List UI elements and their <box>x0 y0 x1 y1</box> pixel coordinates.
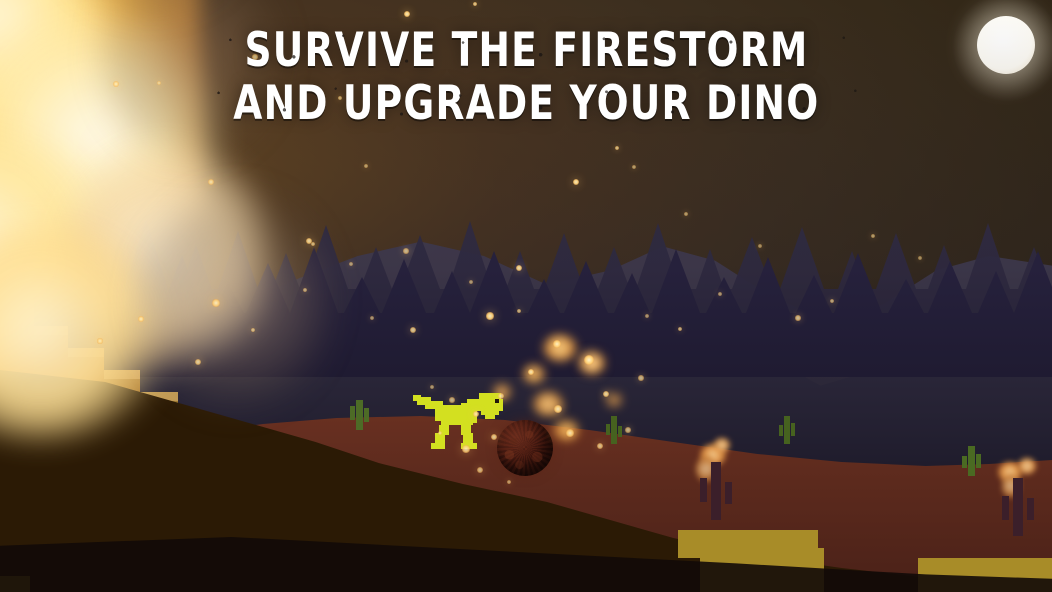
green-cactus-3 <box>777 414 797 444</box>
green-cactus-2 <box>604 414 624 444</box>
pixel-dino <box>413 383 509 449</box>
green-cactus-4 <box>960 444 982 476</box>
burning-cactus-2 <box>996 474 1040 536</box>
game-screenshot-stage: SURVIVE THE FIRESTORM AND UPGRADE YOUR D… <box>0 0 1052 592</box>
green-cactus-1 <box>348 396 370 430</box>
burning-cactus-1 <box>694 458 738 520</box>
